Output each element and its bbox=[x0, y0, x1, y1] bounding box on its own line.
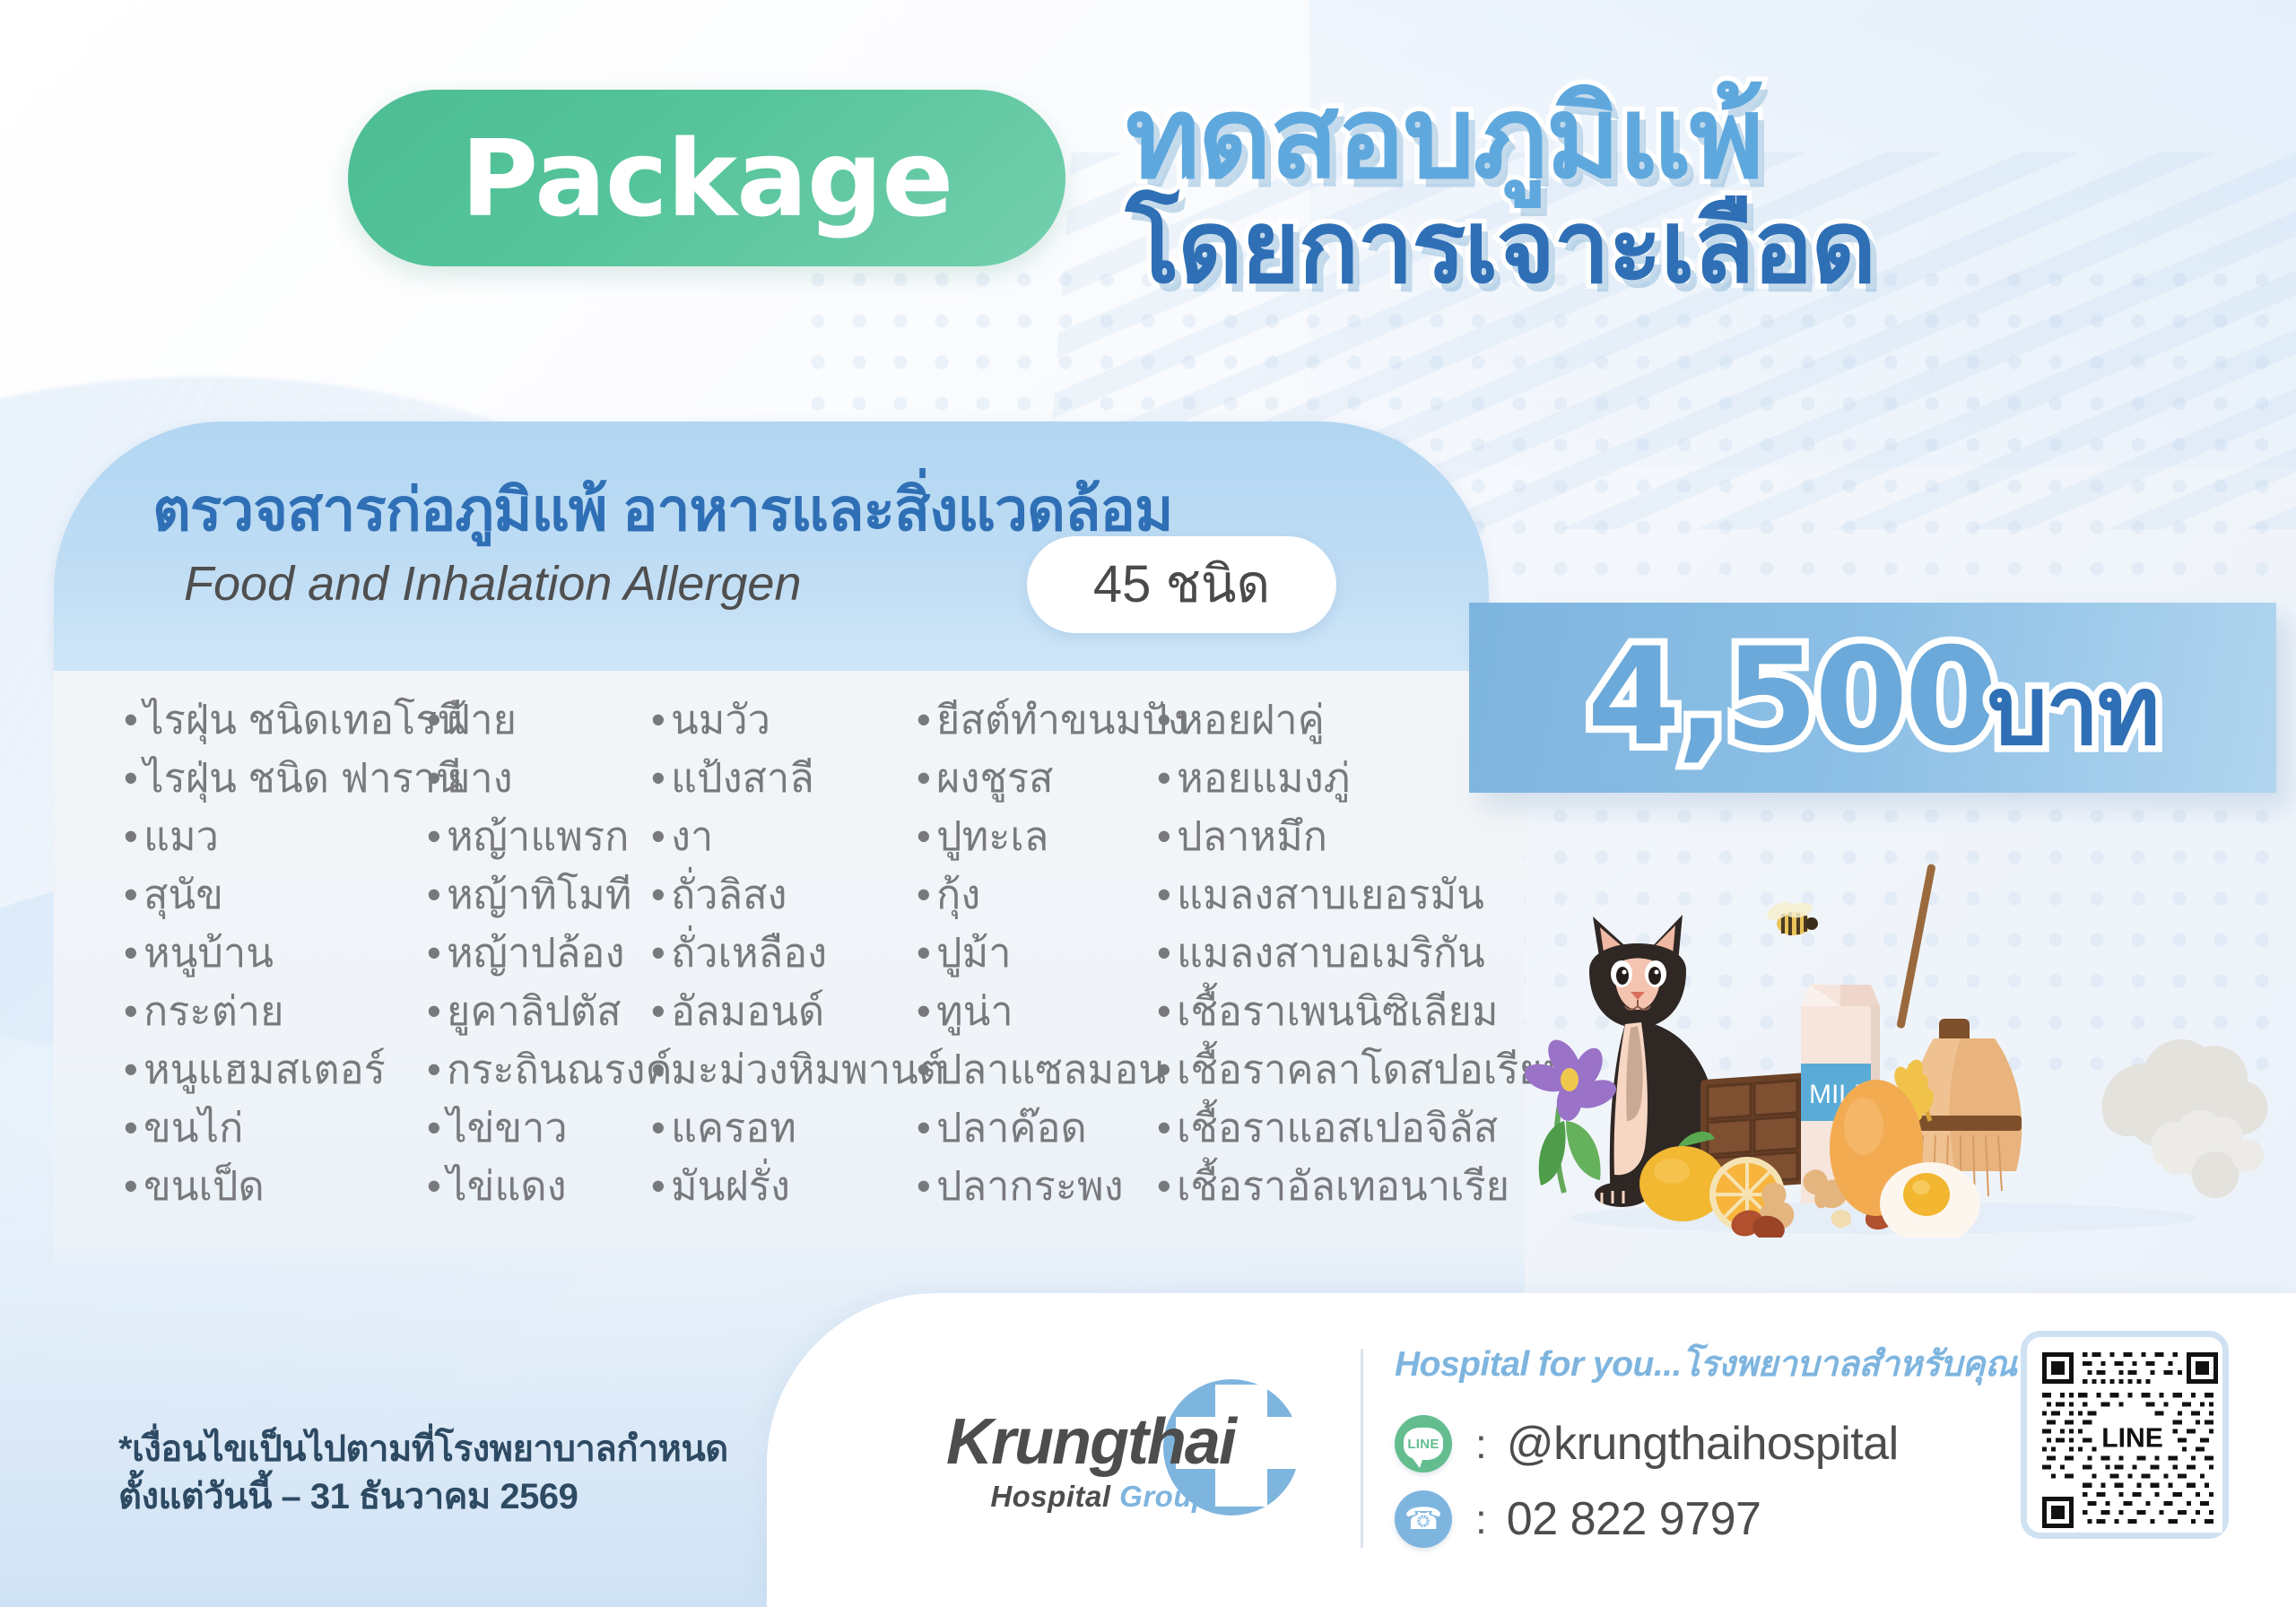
allergen-item: •หอยแมงภู่ bbox=[1157, 749, 1516, 807]
allergen-item-label: ปูทะเล bbox=[936, 807, 1048, 865]
allergen-column-5: •หอยฝาคู่•หอยแมงภู่•ปลาหมึก•แมลงสาบเยอรม… bbox=[1157, 691, 1516, 1215]
bullet-icon: • bbox=[124, 1157, 143, 1215]
allergen-item-label: ปูม้า bbox=[936, 924, 1012, 982]
allergen-item-label: ฝ้าย bbox=[447, 691, 517, 749]
allergen-item-label: มันฝรั่ง bbox=[671, 1157, 790, 1215]
allergen-item-label: ทูน่า bbox=[936, 982, 1013, 1040]
footer-panel: Krungthai Hospital Group Hospital for yo… bbox=[767, 1293, 2296, 1607]
price-banner: 4,500 บาท bbox=[1469, 603, 2276, 793]
bullet-icon: • bbox=[1157, 1157, 1177, 1215]
allergen-item: •แครอท bbox=[651, 1099, 917, 1157]
bullet-icon: • bbox=[427, 1040, 447, 1099]
bullet-icon: • bbox=[1157, 1099, 1177, 1157]
allergen-item-label: เชื้อราแอสเปอจิลัส bbox=[1177, 1099, 1498, 1157]
allergen-item: •ขนไก่ bbox=[124, 1099, 427, 1157]
bullet-icon: • bbox=[1157, 691, 1177, 749]
allergen-item: •หนูบ้าน bbox=[124, 924, 427, 982]
phone-contact-row[interactable]: ☎ : 02 822 9797 bbox=[1395, 1481, 2040, 1557]
bullet-icon: • bbox=[124, 691, 143, 749]
bullet-icon: • bbox=[651, 1099, 671, 1157]
qr-code-graphic: LINE bbox=[2038, 1348, 2222, 1533]
line-qr-code[interactable]: LINE bbox=[2021, 1331, 2229, 1539]
allergen-count-badge-label: 45 ชนิด bbox=[1093, 559, 1270, 611]
bullet-icon: • bbox=[917, 807, 936, 865]
line-contact-row[interactable]: LINE : @krungthaihospital bbox=[1395, 1406, 2040, 1481]
footnote: *เงื่อนไขเป็นไปตามที่โรงพยาบาลกำหนด ตั้ง… bbox=[118, 1426, 728, 1521]
phone-glyph: ☎ bbox=[1405, 1504, 1442, 1534]
logo-main-text: Krungthai bbox=[946, 1410, 1235, 1474]
allergen-item-label: สุนัข bbox=[143, 865, 223, 924]
allergen-item: •ฝ้าย bbox=[427, 691, 651, 749]
bullet-icon: • bbox=[124, 749, 143, 807]
bullet-icon: • bbox=[124, 865, 143, 924]
allergen-item: •มะม่วงหิมพานต์ bbox=[651, 1040, 917, 1099]
bullet-icon: • bbox=[917, 865, 936, 924]
line-id-value: @krungthaihospital bbox=[1507, 1417, 1899, 1471]
allergen-item: •กุ้ง bbox=[917, 865, 1157, 924]
allergen-item-label: ยาง bbox=[447, 749, 513, 807]
allergen-item-label: ยีสต์ทำขนมปัง bbox=[936, 691, 1187, 749]
allergen-item: •กระถินณรงค์ bbox=[427, 1040, 651, 1099]
phone-colon: : bbox=[1475, 1495, 1487, 1543]
allergen-item: •แป้งสาลี bbox=[651, 749, 917, 807]
allergen-item-label: อัลมอนด์ bbox=[671, 982, 824, 1040]
allergen-item-label: แมลงสาบอเมริกัน bbox=[1177, 924, 1485, 982]
allergen-card-header: ตรวจสารก่อภูมิแพ้ อาหารและสิ่งแวดล้อม Fo… bbox=[54, 421, 1489, 671]
allergen-item: •ยาง bbox=[427, 749, 651, 807]
bullet-icon: • bbox=[651, 1157, 671, 1215]
allergen-item-label: หอยแมงภู่ bbox=[1177, 749, 1350, 807]
allergen-item: •ยีสต์ทำขนมปัง bbox=[917, 691, 1157, 749]
bullet-icon: • bbox=[427, 1099, 447, 1157]
bullet-icon: • bbox=[1157, 982, 1177, 1040]
allergen-column-group: •ไรฝุ่น ชนิดเทอโรนี•ไรฝุ่น ชนิด ฟารานี•แ… bbox=[124, 691, 1516, 1215]
bullet-icon: • bbox=[1157, 865, 1177, 924]
allergen-item-label: เชื้อราเพนนิซิเลียม bbox=[1177, 982, 1498, 1040]
bullet-icon: • bbox=[427, 865, 447, 924]
flower-shape bbox=[1525, 1034, 1620, 1193]
allergen-item-label: ผงชูรส bbox=[936, 749, 1054, 807]
allergen-item-label: ปลาแซลมอน bbox=[936, 1040, 1166, 1099]
allergen-item-label: หญ้าปล้อง bbox=[447, 924, 624, 982]
bullet-icon: • bbox=[1157, 1040, 1177, 1099]
allergen-item: •งา bbox=[651, 807, 917, 865]
bullet-icon: • bbox=[917, 749, 936, 807]
allergen-item: •แมลงสาบอเมริกัน bbox=[1157, 924, 1516, 982]
allergen-item: •ผงชูรส bbox=[917, 749, 1157, 807]
logo-sub-group: Group bbox=[1119, 1480, 1210, 1513]
dust-cloud-shape bbox=[2102, 1039, 2268, 1198]
allergen-item: •ถั่วลิสง bbox=[651, 865, 917, 924]
bullet-icon: • bbox=[427, 982, 447, 1040]
allergen-item-label: แมลงสาบเยอรมัน bbox=[1177, 865, 1484, 924]
footer-divider bbox=[1361, 1349, 1363, 1548]
allergen-card-title-th: ตรวจสารก่อภูมิแพ้ อาหารและสิ่งแวดล้อม bbox=[152, 463, 1173, 557]
line-bubble-shape: LINE bbox=[1404, 1428, 1443, 1460]
package-badge-label: Package bbox=[461, 126, 953, 231]
allergen-card-title-en: Food and Inhalation Allergen bbox=[184, 556, 802, 612]
bullet-icon: • bbox=[427, 691, 447, 749]
logo-wordmark: Krungthai Hospital Group bbox=[946, 1410, 1235, 1511]
allergen-item: •ถั่วเหลือง bbox=[651, 924, 917, 982]
allergen-item: •เชื้อราเพนนิซิเลียม bbox=[1157, 982, 1516, 1040]
allergen-column-3: •นมวัว•แป้งสาลี•งา•ถั่วลิสง•ถั่วเหลือง•อ… bbox=[651, 691, 917, 1215]
allergen-item: •ไรฝุ่น ชนิด ฟารานี bbox=[124, 749, 427, 807]
allergen-item-label: กุ้ง bbox=[936, 865, 980, 924]
allergen-item: •แมว bbox=[124, 807, 427, 865]
bullet-icon: • bbox=[124, 807, 143, 865]
bee-shape bbox=[1764, 899, 1818, 935]
allergen-item: •ทูน่า bbox=[917, 982, 1157, 1040]
bullet-icon: • bbox=[651, 924, 671, 982]
bullet-icon: • bbox=[427, 924, 447, 982]
line-icon-label: LINE bbox=[1407, 1437, 1439, 1452]
contact-block: Hospital for you...โรงพยาบาลสำหรับคุณ LI… bbox=[1395, 1336, 2040, 1557]
bullet-icon: • bbox=[651, 691, 671, 749]
bullet-icon: • bbox=[917, 924, 936, 982]
allergen-item-label: หนูบ้าน bbox=[143, 924, 274, 982]
bullet-icon: • bbox=[917, 982, 936, 1040]
allergen-column-4: •ยีสต์ทำขนมปัง•ผงชูรส•ปูทะเล•กุ้ง•ปูม้า•… bbox=[917, 691, 1157, 1215]
allergen-item-label: งา bbox=[671, 807, 713, 865]
allergen-column-2: •ฝ้าย•ยาง•หญ้าแพรก•หญ้าทิโมที•หญ้าปล้อง•… bbox=[427, 691, 651, 1215]
allergen-item: •ปลาแซลมอน bbox=[917, 1040, 1157, 1099]
phone-icon[interactable]: ☎ bbox=[1395, 1490, 1452, 1548]
allergen-item-label: ขนเป็ด bbox=[143, 1157, 265, 1215]
allergen-item: •แมลงสาบเยอรมัน bbox=[1157, 865, 1516, 924]
allergen-item-label: แมว bbox=[143, 807, 219, 865]
allergen-item-label: กระถินณรงค์ bbox=[447, 1040, 673, 1099]
allergen-item-label: หญ้าทิโมที bbox=[447, 865, 631, 924]
allergen-item-label: เชื้อราอัลเทอนาเรีย bbox=[1177, 1157, 1509, 1215]
allergen-card: ตรวจสารก่อภูมิแพ้ อาหารและสิ่งแวดล้อม Fo… bbox=[54, 421, 1489, 1264]
footnote-line-2: ตั้งแต่วันนี้ – 31 ธันวาคม 2569 bbox=[118, 1473, 728, 1521]
bullet-icon: • bbox=[917, 691, 936, 749]
headline: ทดสอบภูมิแพ้ โดยการเจาะเลือด bbox=[1126, 83, 2229, 297]
allergen-item-label: หญ้าแพรก bbox=[447, 807, 629, 865]
line-icon[interactable]: LINE bbox=[1395, 1415, 1452, 1472]
hospital-tagline: Hospital for you...โรงพยาบาลสำหรับคุณ bbox=[1395, 1336, 2040, 1392]
allergen-item-label: ไรฝุ่น ชนิด ฟารานี bbox=[143, 749, 464, 807]
logo-sub-text: Hospital Group bbox=[946, 1481, 1235, 1511]
allergen-item: •ปูทะเล bbox=[917, 807, 1157, 865]
allergen-item-label: ปลากระพง bbox=[936, 1157, 1124, 1215]
bullet-icon: • bbox=[124, 1040, 143, 1099]
bullet-icon: • bbox=[427, 807, 447, 865]
allergen-item: •ยูคาลิปตัส bbox=[427, 982, 651, 1040]
bullet-icon: • bbox=[917, 1040, 936, 1099]
bullet-icon: • bbox=[651, 807, 671, 865]
allergen-item: •ปลาหมึก bbox=[1157, 807, 1516, 865]
allergen-item: •ไรฝุ่น ชนิดเทอโรนี bbox=[124, 691, 427, 749]
price-amount: 4,500 bbox=[1587, 630, 1994, 765]
allergen-item: •ขนเป็ด bbox=[124, 1157, 427, 1215]
krungthai-logo: Krungthai Hospital Group bbox=[946, 1372, 1323, 1542]
allergen-column-1: •ไรฝุ่น ชนิดเทอโรนี•ไรฝุ่น ชนิด ฟารานี•แ… bbox=[124, 691, 427, 1215]
allergen-item-label: แป้งสาลี bbox=[671, 749, 814, 807]
allergen-item: •อัลมอนด์ bbox=[651, 982, 917, 1040]
allergen-item-label: ปลาหมึก bbox=[1177, 807, 1327, 865]
bullet-icon: • bbox=[1157, 807, 1177, 865]
allergen-item-label: ขนไก่ bbox=[143, 1099, 243, 1157]
allergen-illustration: MILK bbox=[1525, 852, 2278, 1238]
bullet-icon: • bbox=[1157, 924, 1177, 982]
bullet-icon: • bbox=[651, 749, 671, 807]
allergen-item: •หญ้าทิโมที bbox=[427, 865, 651, 924]
allergen-item: •เชื้อราอัลเทอนาเรีย bbox=[1157, 1157, 1516, 1215]
allergen-item-label: ปลาค๊อด bbox=[936, 1099, 1087, 1157]
bullet-icon: • bbox=[651, 1040, 671, 1099]
allergen-item: •หอยฝาคู่ bbox=[1157, 691, 1516, 749]
package-badge: Package bbox=[348, 90, 1065, 266]
allergen-item: •ไข่ขาว bbox=[427, 1099, 651, 1157]
footnote-line-1: *เงื่อนไขเป็นไปตามที่โรงพยาบาลกำหนด bbox=[118, 1426, 728, 1473]
allergen-item: •หญ้าปล้อง bbox=[427, 924, 651, 982]
headline-line-2: โดยการเจาะเลือด bbox=[1126, 198, 2229, 297]
bullet-icon: • bbox=[651, 982, 671, 1040]
allergen-item-label: มะม่วงหิมพานต์ bbox=[671, 1040, 944, 1099]
allergen-item: •หญ้าแพรก bbox=[427, 807, 651, 865]
allergen-item-label: นมวัว bbox=[671, 691, 770, 749]
bullet-icon: • bbox=[427, 1157, 447, 1215]
allergen-item-label: ยูคาลิปตัส bbox=[447, 982, 622, 1040]
allergen-item: •สุนัข bbox=[124, 865, 427, 924]
allergen-item-label: หอยฝาคู่ bbox=[1177, 691, 1325, 749]
allergen-item-label: กระต่าย bbox=[143, 982, 283, 1040]
allergen-item-label: หนูแฮมสเตอร์ bbox=[143, 1040, 386, 1099]
allergen-item-label: ไรฝุ่น ชนิดเทอโรนี bbox=[143, 691, 465, 749]
price-row: 4,500 บาท bbox=[1587, 630, 2158, 765]
allergen-item: •มันฝรั่ง bbox=[651, 1157, 917, 1215]
allergen-count-badge: 45 ชนิด bbox=[1027, 536, 1336, 633]
allergen-item: •ปลาค๊อด bbox=[917, 1099, 1157, 1157]
allergen-item-label: ไข่ขาว bbox=[447, 1099, 568, 1157]
bullet-icon: • bbox=[124, 982, 143, 1040]
allergen-item: •นมวัว bbox=[651, 691, 917, 749]
bullet-icon: • bbox=[917, 1157, 936, 1215]
allergen-item: •กระต่าย bbox=[124, 982, 427, 1040]
allergen-item: •ปลากระพง bbox=[917, 1157, 1157, 1215]
allergen-item-label: แครอท bbox=[671, 1099, 796, 1157]
bullet-icon: • bbox=[124, 924, 143, 982]
logo-sub-hospital: Hospital bbox=[990, 1480, 1119, 1513]
bullet-icon: • bbox=[917, 1099, 936, 1157]
line-colon: : bbox=[1475, 1420, 1487, 1468]
bullet-icon: • bbox=[651, 865, 671, 924]
phone-number-value: 02 822 9797 bbox=[1507, 1492, 1761, 1546]
bullet-icon: • bbox=[427, 749, 447, 807]
allergen-item: •ปูม้า bbox=[917, 924, 1157, 982]
qr-center-label: LINE bbox=[2101, 1424, 2163, 1454]
price-currency-unit: บาท bbox=[1987, 664, 2159, 759]
allergen-item: •หนูแฮมสเตอร์ bbox=[124, 1040, 427, 1099]
allergen-item: •เชื้อราคลาโดสปอเรียม bbox=[1157, 1040, 1516, 1099]
poster-root: Package ทดสอบภูมิแพ้ โดยการเจาะเลือด ตรว… bbox=[0, 0, 2296, 1607]
bullet-icon: • bbox=[124, 1099, 143, 1157]
headline-line-1: ทดสอบภูมิแพ้ bbox=[1126, 83, 2229, 193]
allergen-item-label: เชื้อราคลาโดสปอเรียม bbox=[1177, 1040, 1569, 1099]
bullet-icon: • bbox=[1157, 749, 1177, 807]
allergen-item-label: ถั่วเหลือง bbox=[671, 924, 827, 982]
allergen-card-body: •ไรฝุ่น ชนิดเทอโรนี•ไรฝุ่น ชนิด ฟารานี•แ… bbox=[54, 671, 1525, 1264]
allergen-item-label: ถั่วลิสง bbox=[671, 865, 787, 924]
allergen-item: •ไข่แดง bbox=[427, 1157, 651, 1215]
allergen-item-label: ไข่แดง bbox=[447, 1157, 567, 1215]
allergen-item: •เชื้อราแอสเปอจิลัส bbox=[1157, 1099, 1516, 1157]
